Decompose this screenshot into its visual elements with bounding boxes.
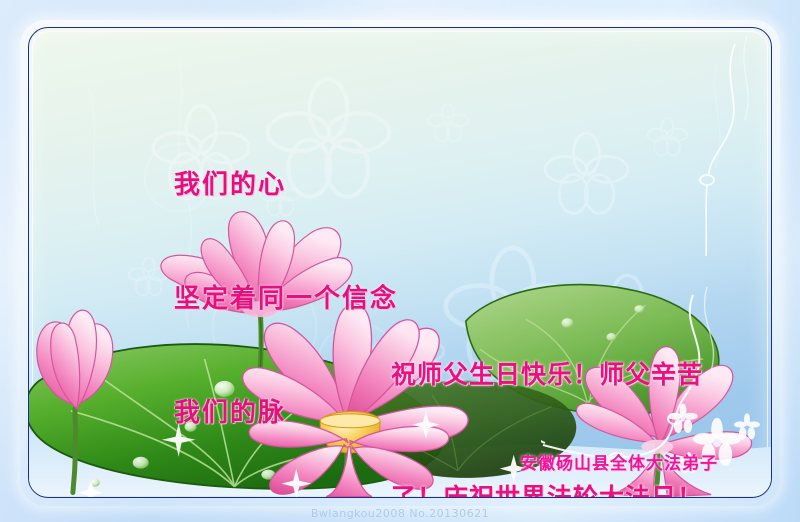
lotus-bud-left <box>37 310 113 409</box>
poem-line-3: 我们的脉 <box>174 394 426 432</box>
signature-line-1: 安徽砀山县全体大法弟子 <box>469 448 769 480</box>
signature-block: 安徽砀山县全体大法弟子 敬上 <box>469 384 769 498</box>
greeting-card: 我们的心 坚定着同一个信念 我们的脉 跳动着宇宙的最强音 祝师父生日快乐！师父辛… <box>0 0 800 522</box>
poem-line-2: 坚定着同一个信念 <box>174 280 426 318</box>
poem-line-1: 我们的心 <box>174 166 426 204</box>
top-swirl-decoration <box>617 28 767 258</box>
card-panel: 我们的心 坚定着同一个信念 我们的脉 跳动着宇宙的最强音 祝师父生日快乐！师父辛… <box>28 27 772 498</box>
poem-text-block: 我们的心 坚定着同一个信念 我们的脉 跳动着宇宙的最强音 <box>174 90 426 498</box>
bottom-watermark-text: Bwlangkou2008 No.20130621 <box>0 507 800 520</box>
